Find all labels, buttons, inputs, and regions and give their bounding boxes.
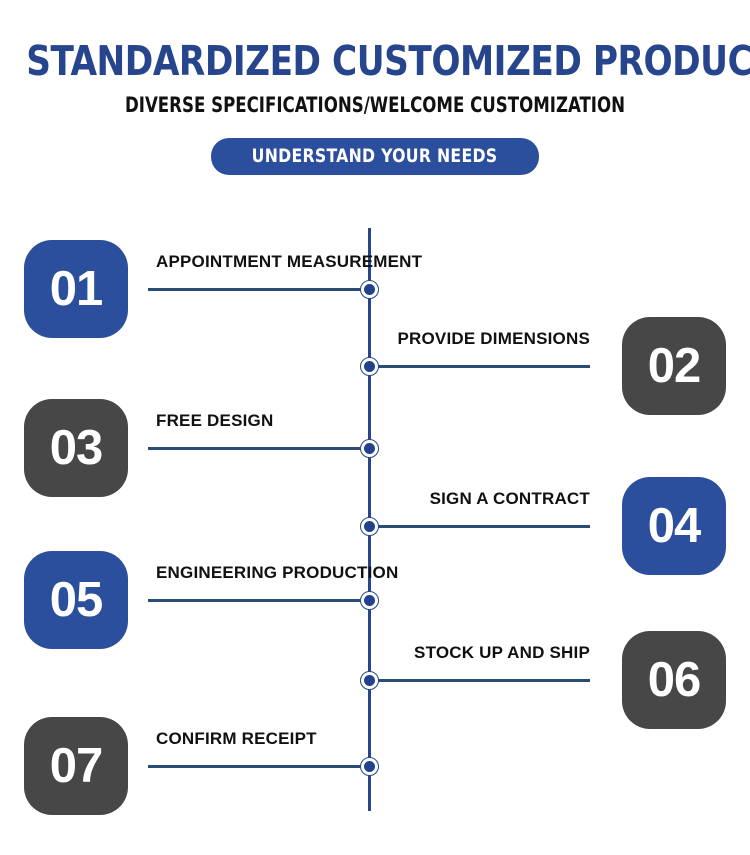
step-connector-line <box>370 525 590 528</box>
step-node-dot[interactable] <box>360 671 379 690</box>
step-node-dot[interactable] <box>360 591 379 610</box>
step-number-badge[interactable]: 07 <box>24 717 128 815</box>
step-node-dot[interactable] <box>360 757 379 776</box>
step-number-badge[interactable]: 04 <box>622 477 726 575</box>
step-number-badge[interactable]: 02 <box>622 317 726 415</box>
step-connector-line <box>148 765 370 768</box>
step-number-badge[interactable]: 03 <box>24 399 128 497</box>
step-node-dot[interactable] <box>360 439 379 458</box>
step-number-badge[interactable]: 01 <box>24 240 128 338</box>
step-connector-line <box>370 365 590 368</box>
timeline: APPOINTMENT MEASUREMENT 01 PROVIDE DIMEN… <box>0 0 750 855</box>
step-label: FREE DESIGN <box>156 410 273 432</box>
step-label: APPOINTMENT MEASUREMENT <box>156 251 422 273</box>
step-node-dot[interactable] <box>360 517 379 536</box>
step-number-badge[interactable]: 05 <box>24 551 128 649</box>
step-label: SIGN A CONTRACT <box>370 488 590 510</box>
step-connector-line <box>148 599 370 602</box>
step-label: CONFIRM RECEIPT <box>156 728 317 750</box>
step-label: ENGINEERING PRODUCTION <box>156 562 398 584</box>
step-connector-line <box>148 288 370 291</box>
step-node-dot[interactable] <box>360 357 379 376</box>
step-number-badge[interactable]: 06 <box>622 631 726 729</box>
step-connector-line <box>148 447 370 450</box>
step-label: STOCK UP AND SHIP <box>370 642 590 664</box>
step-node-dot[interactable] <box>360 280 379 299</box>
step-label: PROVIDE DIMENSIONS <box>370 328 590 350</box>
step-connector-line <box>370 679 590 682</box>
